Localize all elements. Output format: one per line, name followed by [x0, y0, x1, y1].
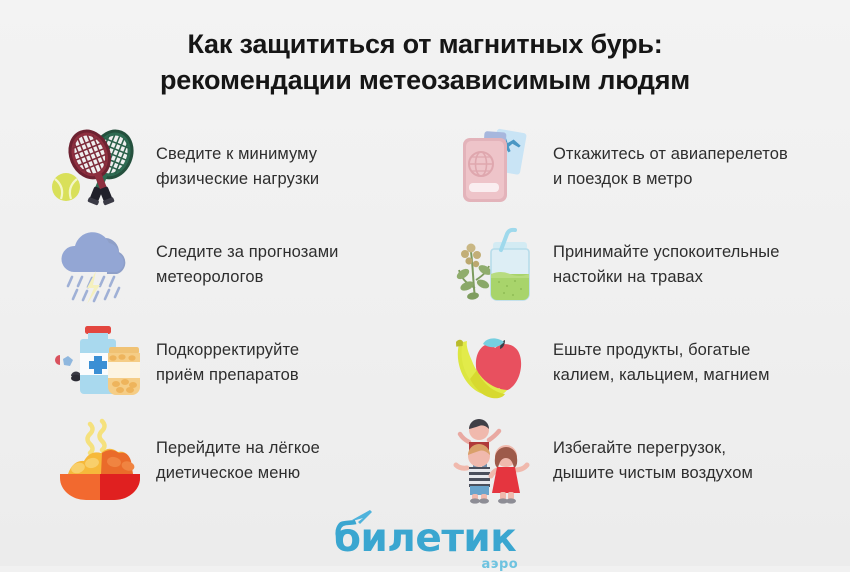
tip-text: Подкорректируйте приём препаратов: [148, 338, 299, 388]
banana-apple-icon: [449, 320, 545, 406]
tip-text: Ешьте продукты, богатые калием, кальцием…: [545, 338, 770, 388]
tip-text: Сведите к минимуму физические нагрузки: [148, 142, 319, 192]
tip-text: Принимайте успокоительные настойки на тр…: [545, 240, 780, 290]
tip-line-1: Откажитесь от авиаперелетов: [553, 142, 788, 167]
tip-line-1: Подкорректируйте: [156, 338, 299, 363]
tip-line-2: метеорологов: [156, 265, 338, 290]
hot-food-bowl-icon: [52, 418, 148, 504]
tip-item-reduce-physical-activity: Сведите к минимуму физические нагрузки: [0, 118, 425, 216]
tips-grid: Сведите к минимуму физические нагрузки: [0, 118, 850, 510]
airplane-icon: [350, 508, 376, 526]
tip-line-1: Следите за прогнозами: [156, 240, 338, 265]
herbal-drink-jar-icon: [449, 222, 545, 308]
tip-line-2: калием, кальцием, магнием: [553, 363, 770, 388]
tip-line-1: Принимайте успокоительные: [553, 240, 780, 265]
tip-line-1: Ешьте продукты, богатые: [553, 338, 770, 363]
tip-text: Перейдите на лёгкое диетическое меню: [148, 436, 320, 486]
tip-item-adjust-medication: Подкорректируйте приём препаратов: [0, 314, 425, 412]
rain-cloud-lightning-icon: [52, 222, 148, 308]
medicine-bottles-icon: [52, 320, 148, 406]
tip-line-2: диетическое меню: [156, 461, 320, 486]
logo-subtext: аэро: [482, 558, 519, 571]
title-line-2: рекомендации метеозависимым людям: [0, 62, 850, 98]
tip-line-1: Сведите к минимуму: [156, 142, 319, 167]
tip-line-2: дышите чистым воздухом: [553, 461, 753, 486]
tip-item-avoid-flights-metro: Откажитесь от авиаперелетов и поездок в …: [425, 118, 850, 216]
tip-text: Откажитесь от авиаперелетов и поездок в …: [545, 142, 788, 192]
title-line-1: Как защититься от магнитных бурь:: [0, 26, 850, 62]
tip-item-light-diet-menu: Перейдите на лёгкое диетическое меню: [0, 412, 425, 510]
tip-line-2: настойки на травах: [553, 265, 780, 290]
tip-item-potassium-rich-foods: Ешьте продукты, богатые калием, кальцием…: [425, 314, 850, 412]
tip-line-2: физические нагрузки: [156, 167, 319, 192]
tip-line-1: Перейдите на лёгкое: [156, 436, 320, 461]
passport-tickets-icon: [449, 124, 545, 210]
tip-item-avoid-overload-fresh-air: Избегайте перегрузок, дышите чистым возд…: [425, 412, 850, 510]
tip-text: Избегайте перегрузок, дышите чистым возд…: [545, 436, 753, 486]
infographic-poster: Как защититься от магнитных бурь: рекоме…: [0, 0, 850, 566]
tip-line-2: и поездок в метро: [553, 167, 788, 192]
tip-item-herbal-sedatives: Принимайте успокоительные настойки на тр…: [425, 216, 850, 314]
brand-logo[interactable]: билетик аэро: [0, 519, 850, 558]
children-playing-icon: [449, 418, 545, 504]
tip-item-watch-weather-forecast: Следите за прогнозами метеорологов: [0, 216, 425, 314]
tip-line-1: Избегайте перегрузок,: [553, 436, 753, 461]
tip-text: Следите за прогнозами метеорологов: [148, 240, 338, 290]
tip-line-2: приём препаратов: [156, 363, 299, 388]
page-title: Как защититься от магнитных бурь: рекоме…: [0, 0, 850, 98]
tennis-rackets-icon: [52, 124, 148, 210]
